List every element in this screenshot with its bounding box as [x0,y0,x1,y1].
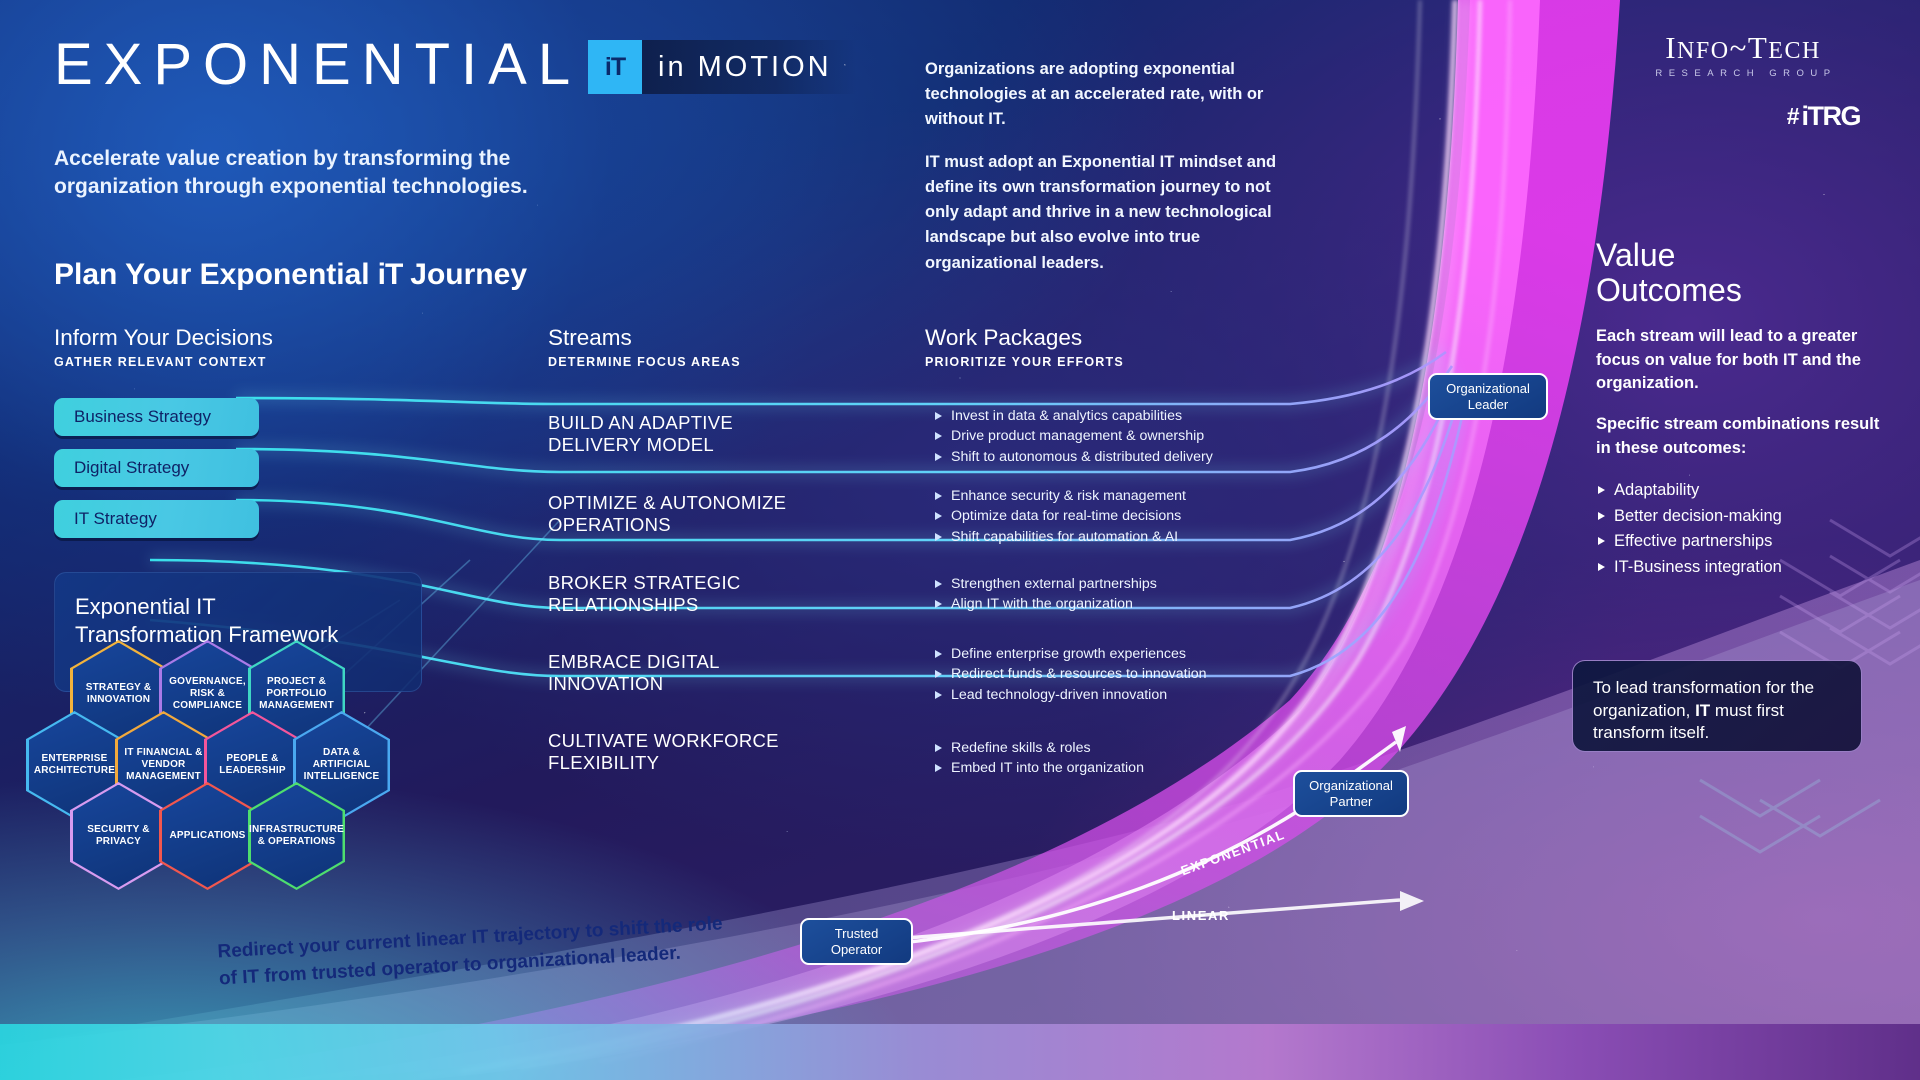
callout-emphasis: IT [1695,701,1710,720]
value-outcomes-panel: Value Outcomes Each stream will lead to … [1596,238,1896,580]
work-packages-stream-3: Strengthen external partnerships Align I… [935,576,1275,617]
work-package-item[interactable]: Embed IT into the organization [935,760,1275,777]
stream-name-line1: BROKER STRATEGIC [548,572,878,594]
stream-name-line1: OPTIMIZE & AUTONOMIZE [548,492,878,514]
itrg-hashtag: # iTRG [1618,101,1868,132]
stream-cultivate-workforce-flexibility[interactable]: CULTIVATE WORKFORCE FLEXIBILITY [548,730,878,773]
stream-name-line2: OPERATIONS [548,514,878,536]
main-title: EXPONENTIAL [54,36,581,94]
work-package-item[interactable]: Redefine skills & roles [935,740,1275,757]
stream-broker-strategic-relationships[interactable]: BROKER STRATEGIC RELATIONSHIPS [548,572,878,615]
stream-name-line2: FLEXIBILITY [548,752,878,774]
hex-label: IT FINANCIAL & VENDOR MANAGEMENT [115,747,212,782]
it-badge-label: iT [605,53,625,82]
in-motion-lockup: iT in MOTION [588,40,856,94]
hex-label: GOVERNANCE, RISK & COMPLIANCE [159,676,256,711]
value-outcome-item: Effective partnerships [1596,529,1896,555]
stream-name-line1: CULTIVATE WORKFORCE [548,730,878,752]
stream-build-adaptive-delivery-model[interactable]: BUILD AN ADAPTIVE DELIVERY MODEL [548,412,878,455]
value-outcomes-title: Value Outcomes [1596,238,1896,307]
stream-optimize-autonomize-operations[interactable]: OPTIMIZE & AUTONOMIZE OPERATIONS [548,492,878,535]
value-outcomes-paragraph-1: Each stream will lead to a greater focus… [1596,325,1896,395]
chip-line1: Organizational [1309,778,1393,793]
callout-box: To lead transformation for the organizat… [1572,660,1862,752]
logo-ech: ECH [1768,38,1821,64]
logo-nfo: NFO [1677,38,1730,64]
intro-text-block: Organizations are adopting exponential t… [925,57,1300,276]
column-header-inform: Inform Your Decisions GATHER RELEVANT CO… [54,326,273,369]
logo-tagline: RESEARCH GROUP [1618,68,1868,79]
value-outcomes-title-line2: Outcomes [1596,272,1742,308]
logo-wordmark: INFO~TECH [1618,30,1868,66]
pill-label: Digital Strategy [74,458,189,478]
itrg-word: iTRG [1802,101,1861,132]
intro-paragraph-2: IT must adopt an Exponential IT mindset … [925,150,1300,275]
hex-label: APPLICATIONS [163,830,251,842]
pill-label: IT Strategy [74,509,157,529]
value-outcomes-title-line1: Value [1596,237,1675,273]
work-package-item[interactable]: Optimize data for real-time decisions [935,508,1275,525]
work-packages-stream-4: Define enterprise growth experiences Red… [935,646,1275,707]
hex-label: SECURITY & PRIVACY [70,824,167,848]
work-package-item[interactable]: Enhance security & risk management [935,488,1275,505]
value-outcome-item: IT-Business integration [1596,555,1896,581]
column-subtitle: DETERMINE FOCUS AREAS [548,355,741,369]
stream-name-line2: RELATIONSHIPS [548,594,878,616]
work-package-item[interactable]: Shift to autonomous & distributed delive… [935,449,1275,466]
stream-name-line1: BUILD AN ADAPTIVE [548,412,878,434]
hex-label: PROJECT & PORTFOLIO MANAGEMENT [248,676,345,711]
header-subtitle: Accelerate value creation by transformin… [54,145,614,202]
work-package-item[interactable]: Drive product management & ownership [935,428,1275,445]
framework-hexagon-grid: STRATEGY & INNOVATION GOVERNANCE, RISK &… [18,640,438,920]
input-pill-it-strategy[interactable]: IT Strategy [54,500,259,538]
input-pill-business-strategy[interactable]: Business Strategy [54,398,259,436]
intro-paragraph-1: Organizations are adopting exponential t… [925,57,1300,132]
chip-line2: Operator [831,942,882,957]
hex-label: PEOPLE & LEADERSHIP [204,753,301,777]
in-motion-label: in MOTION [658,51,832,84]
title-exponential: EXPONENTIAL [54,36,581,94]
stream-name-line2: INNOVATION [548,673,878,695]
stream-name-line2: DELIVERY MODEL [548,434,878,456]
column-header-work-packages: Work Packages PRIORITIZE YOUR EFFORTS [925,326,1124,369]
value-outcome-item: Better decision-making [1596,504,1896,530]
callout-text: To lead transformation for the organizat… [1593,677,1841,745]
info-tech-logo: INFO~TECH RESEARCH GROUP # iTRG [1618,30,1868,132]
plan-prefix: Plan Your Exponential [54,258,370,292]
hash-symbol: # [1787,103,1800,130]
column-title: Work Packages [925,326,1124,351]
column-title: Streams [548,326,741,351]
chip-organizational-partner[interactable]: Organizational Partner [1293,770,1409,817]
input-pill-digital-strategy[interactable]: Digital Strategy [54,449,259,487]
hex-label: STRATEGY & INNOVATION [70,682,167,706]
chip-organizational-leader[interactable]: Organizational Leader [1428,373,1548,420]
work-package-item[interactable]: Lead technology-driven innovation [935,687,1275,704]
plan-heading: Plan Your Exponential iT Journey [54,258,527,292]
value-outcomes-paragraph-2: Specific stream combinations result in t… [1596,413,1896,460]
value-outcome-item: Adaptability [1596,478,1896,504]
logo-letter-i: I [1665,30,1677,65]
plan-suffix: Journey [410,258,527,292]
chip-line2: Partner [1330,794,1373,809]
infographic-canvas: EXPONENTIAL iT in MOTION Accelerate valu… [0,0,1920,1080]
plan-it-logo: iT [378,258,403,292]
it-logo-badge: iT [588,40,642,94]
logo-tilde-t: ~T [1730,30,1769,65]
chip-line1: Trusted [835,926,879,941]
column-header-streams: Streams DETERMINE FOCUS AREAS [548,326,741,369]
work-package-item[interactable]: Strengthen external partnerships [935,576,1275,593]
work-package-item[interactable]: Redirect funds & resources to innovation [935,666,1275,683]
chip-trusted-operator[interactable]: Trusted Operator [800,918,913,965]
work-package-item[interactable]: Invest in data & analytics capabilities [935,408,1275,425]
work-package-item[interactable]: Define enterprise growth experiences [935,646,1275,663]
chip-line1: Organizational [1446,381,1530,396]
column-subtitle: PRIORITIZE YOUR EFFORTS [925,355,1124,369]
work-packages-stream-2: Enhance security & risk management Optim… [935,488,1275,549]
stream-embrace-digital-innovation[interactable]: EMBRACE DIGITAL INNOVATION [548,651,878,694]
chip-line2: Leader [1468,397,1508,412]
framework-title: Exponential IT Transformation Framework [55,573,421,648]
work-package-item[interactable]: Align IT with the organization [935,596,1275,613]
framework-title-line1: Exponential IT [75,594,216,619]
work-packages-stream-5: Redefine skills & roles Embed IT into th… [935,740,1275,781]
work-package-item[interactable]: Shift capabilities for automation & AI [935,529,1275,546]
column-subtitle: GATHER RELEVANT CONTEXT [54,355,273,369]
bottom-color-strip [0,1024,1920,1080]
pill-label: Business Strategy [74,407,211,427]
hex-label: ENTERPRISE ARCHITECTURE [26,753,123,777]
label-linear-trajectory: LINEAR [1172,908,1230,923]
column-title: Inform Your Decisions [54,326,273,351]
stream-name-line1: EMBRACE DIGITAL [548,651,878,673]
hex-label: INFRASTRUCTURE & OPERATIONS [243,824,350,848]
value-outcomes-list: Adaptability Better decision-making Effe… [1596,478,1896,580]
work-packages-stream-1: Invest in data & analytics capabilities … [935,408,1275,469]
hex-label: DATA & ARTIFICIAL INTELLIGENCE [293,747,390,782]
